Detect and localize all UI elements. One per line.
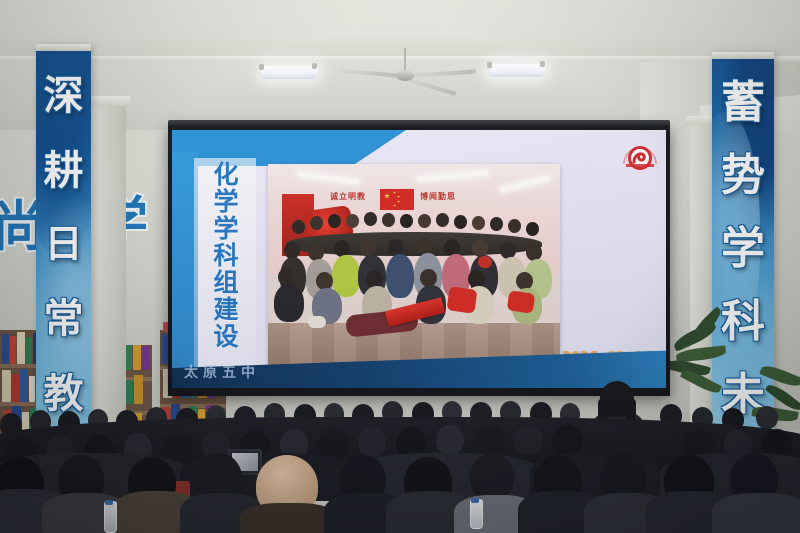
left-banner-text: 深 耕 日 常 教 — [36, 44, 91, 442]
column-left — [86, 100, 126, 440]
right-banner-text: 蓄 势 学 科 未 — [712, 52, 774, 442]
conference-photo-scene: 尚 学 — [0, 0, 800, 533]
ceiling-light-right — [489, 64, 546, 77]
water-bottle-right — [470, 499, 483, 529]
ceiling-light-right-cap — [487, 62, 492, 68]
left-banner-char-2: 耕 — [44, 151, 84, 191]
left-banner-char-3: 日 — [44, 226, 82, 264]
right-banner-char-2: 势 — [721, 154, 765, 198]
audience — [0, 393, 800, 533]
slide-watermark: 太原五中 — [184, 362, 260, 382]
water-bottle-right-cap — [471, 498, 479, 503]
slide-title-char-3: 学 — [213, 216, 238, 242]
ceiling-light-left-cap — [259, 64, 264, 70]
slide-title-char-2: 学 — [213, 189, 238, 215]
slide-title: 化 学 学 科 组 建 设 — [198, 162, 254, 374]
water-bottle-left — [104, 501, 117, 533]
ceiling-light-left — [261, 66, 318, 79]
photo-red-decoration-1 — [446, 286, 477, 314]
ceiling-light-left-cap2 — [312, 63, 317, 69]
photo-wall-text-left: 诚立明教 — [330, 191, 366, 202]
china-flag-icon — [380, 189, 414, 210]
slide-title-char-5: 组 — [213, 270, 238, 296]
presentation-slide: 化 学 学 科 组 建 设 诚立 — [172, 130, 666, 388]
group-photo: 诚立明教 博闻勤思 — [268, 164, 560, 369]
slide-title-char-1: 化 — [213, 162, 238, 188]
water-bottle-left-cap — [105, 500, 113, 505]
slide-title-char-6: 建 — [213, 297, 238, 323]
school-emblem-icon — [620, 138, 654, 168]
ceiling-light-right-cap2 — [540, 61, 545, 67]
left-vertical-banner: 深 耕 日 常 教 — [36, 44, 91, 442]
right-banner-char-3: 学 — [721, 227, 765, 271]
left-banner-char-4: 常 — [44, 299, 84, 339]
right-banner-char-1: 蓄 — [721, 81, 765, 125]
photo-wall-text-right: 博闻勤思 — [420, 191, 456, 202]
ceiling-fan-hub — [396, 70, 414, 81]
ceiling-fan-rod — [404, 48, 406, 72]
slide-title-char-7: 设 — [213, 324, 238, 350]
right-vertical-banner: 蓄 势 学 科 未 — [712, 52, 774, 442]
left-banner-char-1: 深 — [44, 76, 84, 116]
slide-title-char-4: 科 — [213, 243, 238, 269]
photo-red-decoration-2 — [507, 290, 536, 313]
ceiling — [0, 0, 800, 62]
right-banner-char-4: 科 — [721, 300, 765, 344]
